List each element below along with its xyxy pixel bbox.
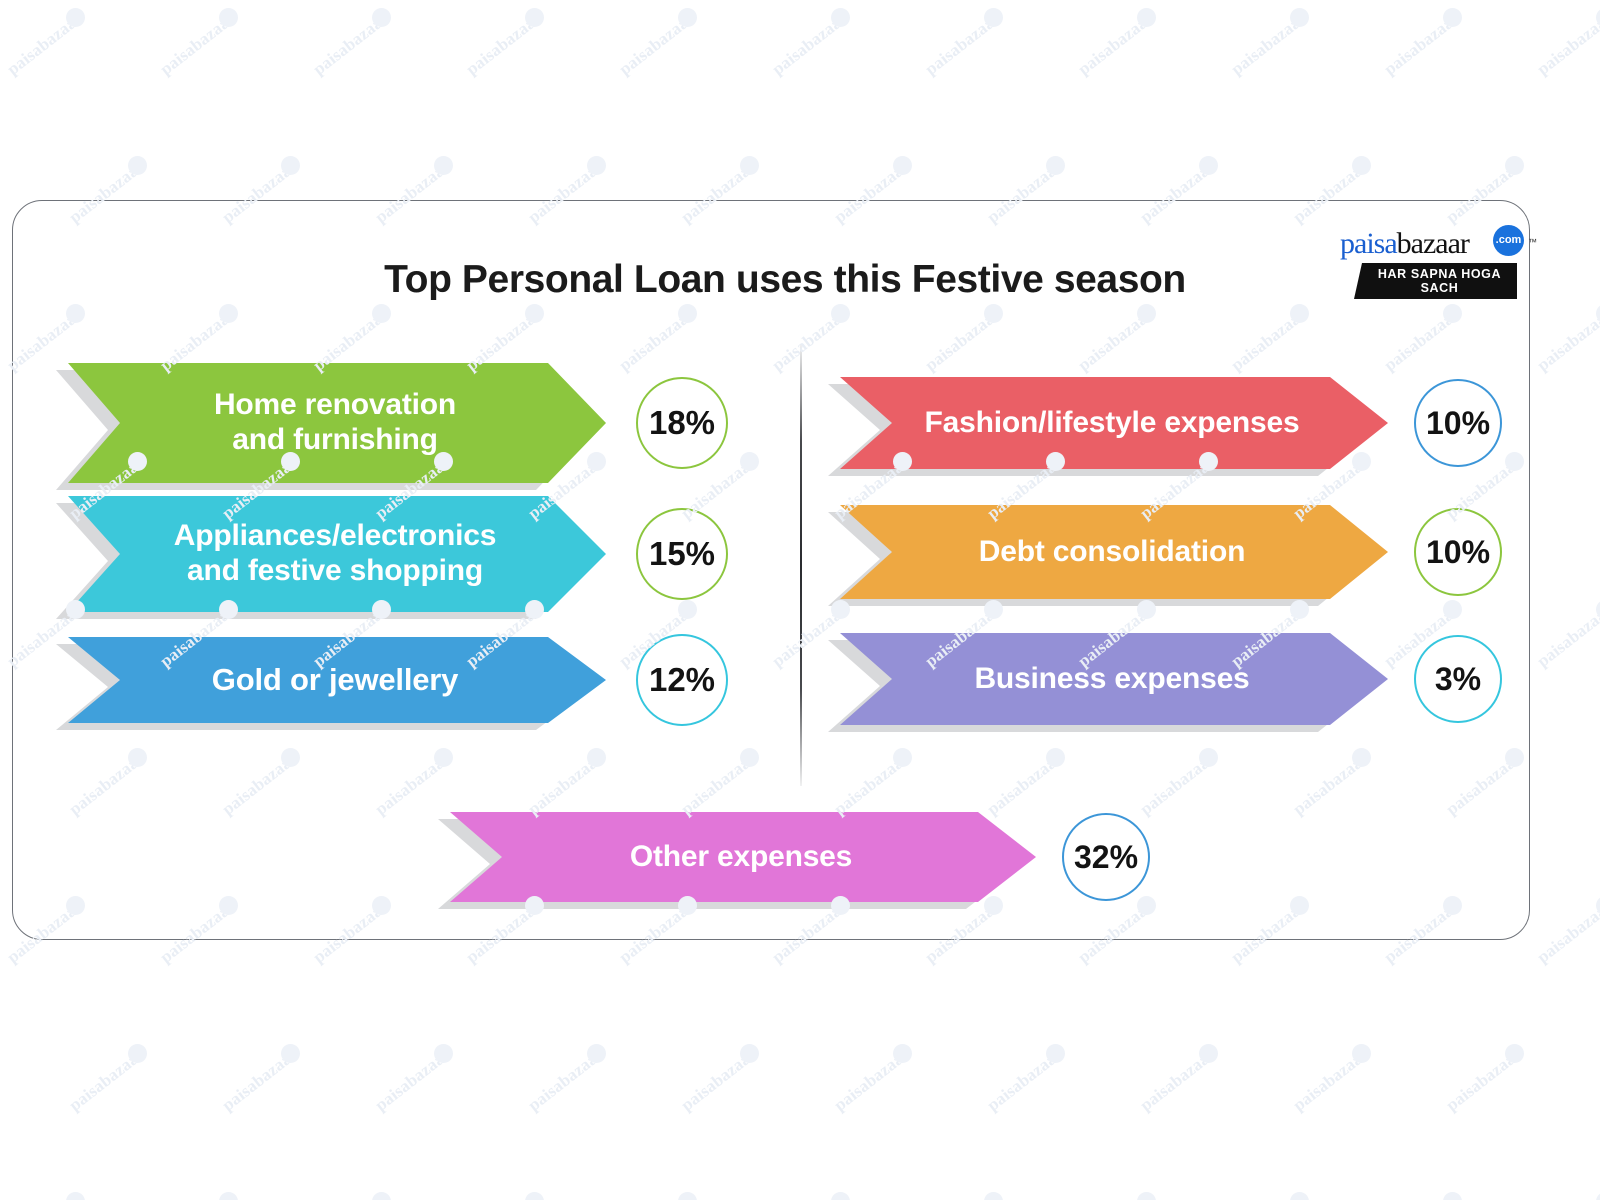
watermark-text: paisabazaar xyxy=(156,1192,239,1200)
loan-use-row: Gold or jewellery12% xyxy=(68,637,728,723)
watermark-text: paisabazaar xyxy=(768,1192,851,1200)
watermark-dot-icon xyxy=(893,1044,912,1063)
loan-use-row: Fashion/lifestyle expenses10% xyxy=(840,377,1502,469)
watermark-dot-icon xyxy=(434,1044,453,1063)
arrow-fill: Business expenses xyxy=(840,633,1388,725)
watermark-dot-icon xyxy=(1352,156,1371,175)
arrow-banner[interactable]: Debt consolidation xyxy=(840,505,1388,599)
watermark-text: paisabazaar xyxy=(1533,304,1600,375)
loan-use-label: Debt consolidation xyxy=(937,535,1291,570)
watermark-dot-icon xyxy=(1046,156,1065,175)
watermark-dot-icon xyxy=(1596,8,1600,27)
watermark-dot-icon xyxy=(525,8,544,27)
watermark-text: paisabazaar xyxy=(1074,8,1157,79)
loan-use-row: Home renovationand furnishing18% xyxy=(68,363,728,483)
logo-word-bazaar: bazaar xyxy=(1397,227,1469,260)
dotcom-badge-icon: .com xyxy=(1493,225,1524,256)
watermark-text: paisabazaar xyxy=(1136,1044,1219,1115)
watermark-dot-icon xyxy=(1290,8,1309,27)
watermark-text: paisabazaar xyxy=(615,1192,698,1200)
watermark-dot-icon xyxy=(219,8,238,27)
trademark-icon: ™ xyxy=(1528,226,1536,258)
loan-use-label-line1: Business expenses xyxy=(974,662,1249,697)
percentage-badge: 12% xyxy=(636,634,728,726)
loan-use-label-line2: and festive shopping xyxy=(174,554,496,589)
watermark-dot-icon xyxy=(831,1192,850,1200)
loan-use-label-line1: Debt consolidation xyxy=(979,535,1245,570)
watermark-text: paisabazaar xyxy=(1533,1192,1600,1200)
loan-use-row: Other expenses32% xyxy=(450,812,1150,902)
watermark-text: paisabazaar xyxy=(1380,8,1463,79)
watermark-dot-icon xyxy=(1596,304,1600,323)
watermark-text: paisabazaar xyxy=(615,8,698,79)
watermark-dot-icon xyxy=(1443,8,1462,27)
arrow-banner[interactable]: Business expenses xyxy=(840,633,1388,725)
watermark-dot-icon xyxy=(587,1044,606,1063)
watermark-text: paisabazaar xyxy=(3,8,86,79)
watermark-text: paisabazaar xyxy=(371,1044,454,1115)
watermark-text: paisabazaar xyxy=(1227,1192,1310,1200)
watermark-dot-icon xyxy=(372,8,391,27)
watermark-dot-icon xyxy=(66,1192,85,1200)
watermark-dot-icon xyxy=(1596,600,1600,619)
watermark-dot-icon xyxy=(1290,1192,1309,1200)
watermark-dot-icon xyxy=(678,8,697,27)
arrow-fill: Appliances/electronicsand festive shoppi… xyxy=(68,496,606,612)
watermark-dot-icon xyxy=(831,8,850,27)
watermark-dot-icon xyxy=(1443,1192,1462,1200)
arrow-fill: Home renovationand furnishing xyxy=(68,363,606,483)
watermark-dot-icon xyxy=(893,156,912,175)
arrow-banner[interactable]: Appliances/electronicsand festive shoppi… xyxy=(68,496,606,612)
watermark-text: paisabazaar xyxy=(65,1044,148,1115)
arrow-banner[interactable]: Home renovationand furnishing xyxy=(68,363,606,483)
watermark-text: paisabazaar xyxy=(1289,1044,1372,1115)
watermark-text: paisabazaar xyxy=(1533,600,1600,671)
watermark-dot-icon xyxy=(372,1192,391,1200)
watermark-text: paisabazaar xyxy=(921,8,1004,79)
watermark-dot-icon xyxy=(434,156,453,175)
watermark-text: paisabazaar xyxy=(677,1044,760,1115)
watermark-text: paisabazaar xyxy=(1074,1192,1157,1200)
percentage-badge: 18% xyxy=(636,377,728,469)
percentage-badge: 32% xyxy=(1062,813,1150,901)
watermark-dot-icon xyxy=(1199,1044,1218,1063)
watermark-text: paisabazaar xyxy=(983,1044,1066,1115)
watermark-dot-icon xyxy=(740,156,759,175)
watermark-dot-icon xyxy=(1505,1044,1524,1063)
watermark-text: paisabazaar xyxy=(1227,8,1310,79)
watermark-text: paisabazaar xyxy=(3,1192,86,1200)
watermark-dot-icon xyxy=(1137,8,1156,27)
arrow-banner[interactable]: Gold or jewellery xyxy=(68,637,606,723)
watermark-dot-icon xyxy=(1596,1192,1600,1200)
watermark-dot-icon xyxy=(984,1192,1003,1200)
watermark-text: paisabazaar xyxy=(462,1192,545,1200)
logo-word-paisa: paisa xyxy=(1340,227,1397,260)
watermark-text: paisabazaar xyxy=(309,1192,392,1200)
percentage-badge: 3% xyxy=(1414,635,1502,723)
watermark-text: paisabazaar xyxy=(218,1044,301,1115)
arrow-banner[interactable]: Other expenses xyxy=(450,812,1036,902)
loan-use-label-line2: and furnishing xyxy=(214,423,456,458)
loan-use-label-line1: Other expenses xyxy=(630,840,852,875)
arrow-fill: Fashion/lifestyle expenses xyxy=(840,377,1388,469)
percentage-badge: 10% xyxy=(1414,379,1502,467)
logo-tagline: HAR SAPNA HOGA SACH xyxy=(1354,263,1517,299)
watermark-dot-icon xyxy=(740,1044,759,1063)
page-title: Top Personal Loan uses this Festive seas… xyxy=(0,258,1570,302)
watermark-text: paisabazaar xyxy=(1533,8,1600,79)
loan-use-label: Appliances/electronicsand festive shoppi… xyxy=(132,519,542,589)
loan-use-row: Debt consolidation10% xyxy=(840,505,1502,599)
watermark-dot-icon xyxy=(281,1044,300,1063)
watermark-dot-icon xyxy=(1046,1044,1065,1063)
loan-use-label: Home renovationand furnishing xyxy=(172,388,502,458)
watermark-text: paisabazaar xyxy=(524,1044,607,1115)
watermark-dot-icon xyxy=(66,8,85,27)
percentage-badge: 15% xyxy=(636,508,728,600)
watermark-text: paisabazaar xyxy=(1595,748,1600,819)
watermark-text: paisabazaar xyxy=(462,8,545,79)
arrow-fill: Other expenses xyxy=(450,812,1036,902)
loan-use-row: Business expenses3% xyxy=(840,633,1502,725)
watermark-dot-icon xyxy=(1199,156,1218,175)
loan-use-label-line1: Fashion/lifestyle expenses xyxy=(925,406,1300,441)
watermark-text: paisabazaar xyxy=(156,8,239,79)
watermark-text: paisabazaar xyxy=(768,8,851,79)
watermark-text: paisabazaar xyxy=(830,1044,913,1115)
loan-use-label-line1: Home renovation xyxy=(214,388,456,423)
watermark-dot-icon xyxy=(525,1192,544,1200)
infographic-canvas: Top Personal Loan uses this Festive seas… xyxy=(0,0,1600,1200)
watermark-dot-icon xyxy=(1505,156,1524,175)
watermark-dot-icon xyxy=(587,156,606,175)
watermark-dot-icon xyxy=(1352,1044,1371,1063)
arrow-fill: Gold or jewellery xyxy=(68,637,606,723)
watermark-text: paisabazaar xyxy=(1533,896,1600,967)
loan-use-label: Fashion/lifestyle expenses xyxy=(883,406,1346,441)
watermark-dot-icon xyxy=(1596,896,1600,915)
logo-wordmark: paisabazaar .com ™ xyxy=(1340,228,1520,260)
loan-use-label: Business expenses xyxy=(932,662,1295,697)
column-divider xyxy=(800,344,802,786)
watermark-dot-icon xyxy=(984,8,1003,27)
loan-use-label-line1: Appliances/electronics xyxy=(174,519,496,554)
loan-use-label: Gold or jewellery xyxy=(170,662,504,698)
arrow-fill: Debt consolidation xyxy=(840,505,1388,599)
watermark-dot-icon xyxy=(678,1192,697,1200)
watermark-text: paisabazaar xyxy=(921,1192,1004,1200)
loan-use-label: Other expenses xyxy=(588,840,898,875)
watermark-text: paisabazaar xyxy=(1380,1192,1463,1200)
watermark-dot-icon xyxy=(219,1192,238,1200)
watermark-text: paisabazaar xyxy=(1595,156,1600,227)
watermark-dot-icon xyxy=(1137,1192,1156,1200)
percentage-badge: 10% xyxy=(1414,508,1502,596)
watermark-text: paisabazaar xyxy=(309,8,392,79)
loan-use-label-line1: Gold or jewellery xyxy=(212,662,458,698)
watermark-dot-icon xyxy=(281,156,300,175)
loan-use-row: Appliances/electronicsand festive shoppi… xyxy=(68,496,728,612)
watermark-text: paisabazaar xyxy=(1442,1044,1525,1115)
watermark-text: paisabazaar xyxy=(1595,452,1600,523)
watermark-dot-icon xyxy=(128,1044,147,1063)
arrow-banner[interactable]: Fashion/lifestyle expenses xyxy=(840,377,1388,469)
watermark-text: paisabazaar xyxy=(1595,1044,1600,1115)
paisabazaar-logo[interactable]: paisabazaar .com ™ HAR SAPNA HOGA SACH xyxy=(1340,228,1520,299)
watermark-dot-icon xyxy=(128,156,147,175)
